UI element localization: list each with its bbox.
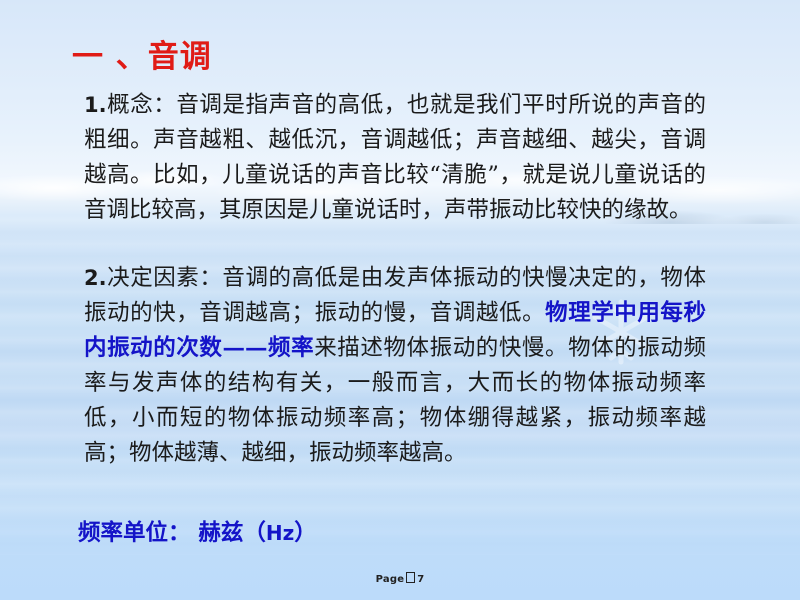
paragraph-determining-factor: 2.决定因素：音调的高低是由发声体振动的快慢决定的，物体振动的快，音调越高；振动… xyxy=(84,261,706,471)
frequency-unit-symbol: Hz xyxy=(266,521,294,545)
slide-canvas: 一 、音调 1.概念：音调是指声音的高低，也就是我们平时所说的声音的粗细。声音越… xyxy=(0,0,800,600)
page-footer-number: 7 xyxy=(417,574,424,585)
paragraph-factor-label: 决定因素： xyxy=(107,265,223,291)
paragraph-concept-label: 概念： xyxy=(107,92,177,118)
paragraph-concept-number: 1. xyxy=(84,93,107,117)
frequency-unit-value: 赫兹（ xyxy=(191,520,266,546)
frequency-unit-value-end: ） xyxy=(294,520,317,546)
slide-content: 一 、音调 1.概念：音调是指声音的高低，也就是我们平时所说的声音的粗细。声音越… xyxy=(0,0,800,600)
page-footer: Page7 xyxy=(0,572,800,585)
page-title: 一 、音调 xyxy=(72,41,212,74)
page-footer-prefix: Page xyxy=(376,574,405,585)
missing-glyph-box-icon xyxy=(406,572,415,583)
paragraph-concept: 1.概念：音调是指声音的高低，也就是我们平时所说的声音的粗细。声音越粗、越低沉，… xyxy=(84,88,706,228)
paragraph-concept-body: 音调是指声音的高低，也就是我们平时所说的声音的粗细。声音越粗、越低沉，音调越低；… xyxy=(84,92,706,223)
frequency-unit-label: 频率单位： xyxy=(78,520,191,546)
frequency-unit-line: 频率单位： 赫兹（Hz） xyxy=(78,515,317,547)
paragraph-factor-number: 2. xyxy=(84,266,107,290)
